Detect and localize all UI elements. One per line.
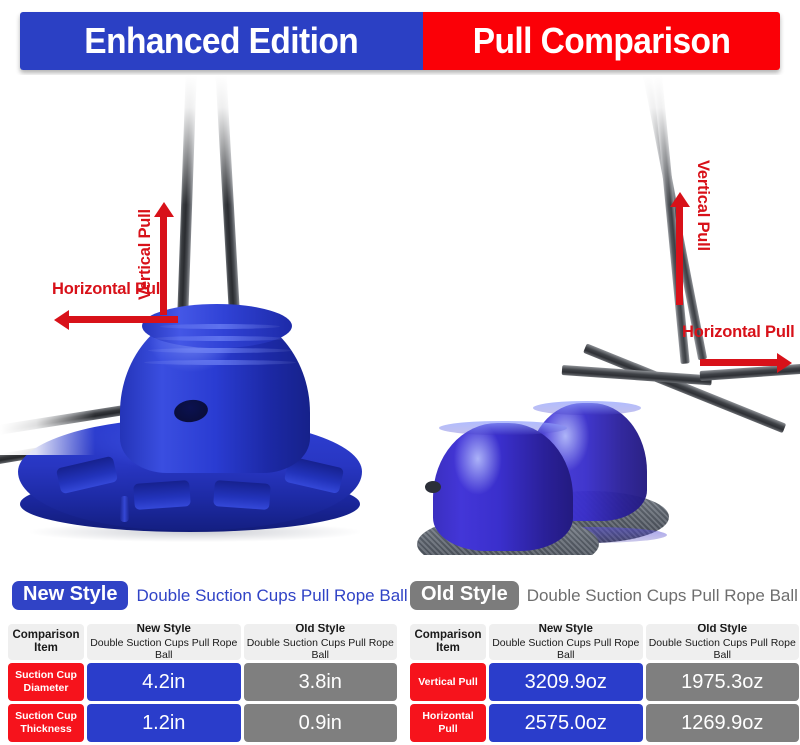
banner-right-segment: Pull Comparison <box>423 12 780 70</box>
annotation-right-horizontal-pull-arrow <box>700 359 778 366</box>
old-style-rim-front <box>439 421 567 435</box>
header-cell-item: Comparison Item <box>410 624 486 660</box>
annotation-left-horizontal-pull-label: Horizontal Pull <box>52 280 165 299</box>
row-item-line2: Diameter <box>24 682 69 695</box>
new-style-ridge <box>144 360 296 365</box>
annotation-right-vertical-pull-arrow <box>676 205 683 305</box>
new-style-badge: New Style <box>12 581 128 610</box>
row-new-value: 1.2in <box>87 704 241 742</box>
header-old-line2: Double Suction Cups Pull Rope Ball <box>244 637 398 660</box>
new-style-ridge <box>160 324 280 329</box>
comparison-table-dimensions: Comparison Item New Style Double Suction… <box>8 624 397 742</box>
header-item-line2: Item <box>436 642 460 655</box>
header-cell-old: Old Style Double Suction Cups Pull Rope … <box>646 624 800 660</box>
banner-right-text: Pull Comparison <box>473 23 731 59</box>
header-cell-new: New Style Double Suction Cups Pull Rope … <box>489 624 643 660</box>
new-style-ridge <box>148 348 292 353</box>
row-item-label: Suction Cup Diameter <box>8 663 84 701</box>
table-row: Vertical Pull 3209.9oz 1975.3oz <box>410 663 799 701</box>
new-style-ridge <box>154 336 286 341</box>
annotation-right-vertical-pull-label: Vertical Pull <box>693 160 712 251</box>
header-old-line1: Old Style <box>697 624 747 637</box>
old-style-nub <box>425 481 441 493</box>
header-old-line1: Old Style <box>295 624 345 637</box>
row-old-value: 3.8in <box>244 663 398 701</box>
new-style-caption: New Style Double Suction Cups Pull Rope … <box>12 581 408 610</box>
table-header-row: Comparison Item New Style Double Suction… <box>8 624 397 660</box>
annotation-right-horizontal-pull-label: Horizontal Pull <box>682 323 795 342</box>
header-item-line2: Item <box>34 642 58 655</box>
row-item-label: Horizontal Pull <box>410 704 486 742</box>
row-item-line1: Horizontal Pull <box>412 710 484 735</box>
row-item-label: Vertical Pull <box>410 663 486 701</box>
header-new-line2: Double Suction Cups Pull Rope Ball <box>489 637 643 660</box>
row-old-value: 1975.3oz <box>646 663 800 701</box>
row-new-value: 4.2in <box>87 663 241 701</box>
annotation-left-vertical-pull-arrow <box>160 215 167 315</box>
header-new-line1: New Style <box>539 624 593 637</box>
header-item-line1: Comparison <box>12 629 79 642</box>
rope-right-vertical-2 <box>652 75 690 364</box>
rope-top-fade <box>0 75 800 205</box>
header-new-line2: Double Suction Cups Pull Rope Ball <box>87 637 241 660</box>
old-style-caption-text: Double Suction Cups Pull Rope Ball <box>527 586 798 606</box>
new-style-product-image <box>10 300 370 550</box>
old-style-bell-front <box>433 423 573 551</box>
banner-left-text: Enhanced Edition <box>85 23 359 59</box>
row-item-line1: Suction Cup <box>15 669 77 682</box>
header-new-line1: New Style <box>137 624 191 637</box>
row-item-line1: Vertical Pull <box>418 676 478 689</box>
table-row: Horizontal Pull 2575.0oz 1269.9oz <box>410 704 799 742</box>
row-item-line2: Thickness <box>20 723 71 736</box>
header-cell-item: Comparison Item <box>8 624 84 660</box>
header-cell-new: New Style Double Suction Cups Pull Rope … <box>87 624 241 660</box>
row-old-value: 1269.9oz <box>646 704 800 742</box>
new-style-pin <box>120 496 129 522</box>
table-row: Suction Cup Diameter 4.2in 3.8in <box>8 663 397 701</box>
old-style-rim-back <box>533 401 641 415</box>
old-style-badge: Old Style <box>410 581 519 610</box>
old-style-product-image <box>415 395 735 555</box>
new-style-notch <box>133 480 191 510</box>
product-photo-stage: Vertical Pull Horizontal Pull Vertical P… <box>0 75 800 555</box>
table-row: Suction Cup Thickness 1.2in 0.9in <box>8 704 397 742</box>
table-header-row: Comparison Item New Style Double Suction… <box>410 624 799 660</box>
row-new-value: 3209.9oz <box>489 663 643 701</box>
banner-left-segment: Enhanced Edition <box>20 12 423 70</box>
new-style-notch <box>213 480 271 510</box>
row-item-line1: Suction Cup <box>15 710 77 723</box>
infographic-page: Enhanced Edition Pull Comparison <box>0 0 800 745</box>
new-style-caption-text: Double Suction Cups Pull Rope Ball <box>136 586 407 606</box>
header-old-line2: Double Suction Cups Pull Rope Ball <box>646 637 800 660</box>
old-style-caption: Old Style Double Suction Cups Pull Rope … <box>410 581 798 610</box>
row-new-value: 2575.0oz <box>489 704 643 742</box>
header-cell-old: Old Style Double Suction Cups Pull Rope … <box>244 624 398 660</box>
row-old-value: 0.9in <box>244 704 398 742</box>
comparison-table-pull-force: Comparison Item New Style Double Suction… <box>410 624 799 742</box>
row-item-label: Suction Cup Thickness <box>8 704 84 742</box>
annotation-left-horizontal-pull-arrow <box>68 316 178 323</box>
header-banner: Enhanced Edition Pull Comparison <box>20 12 780 70</box>
header-item-line1: Comparison <box>414 629 481 642</box>
